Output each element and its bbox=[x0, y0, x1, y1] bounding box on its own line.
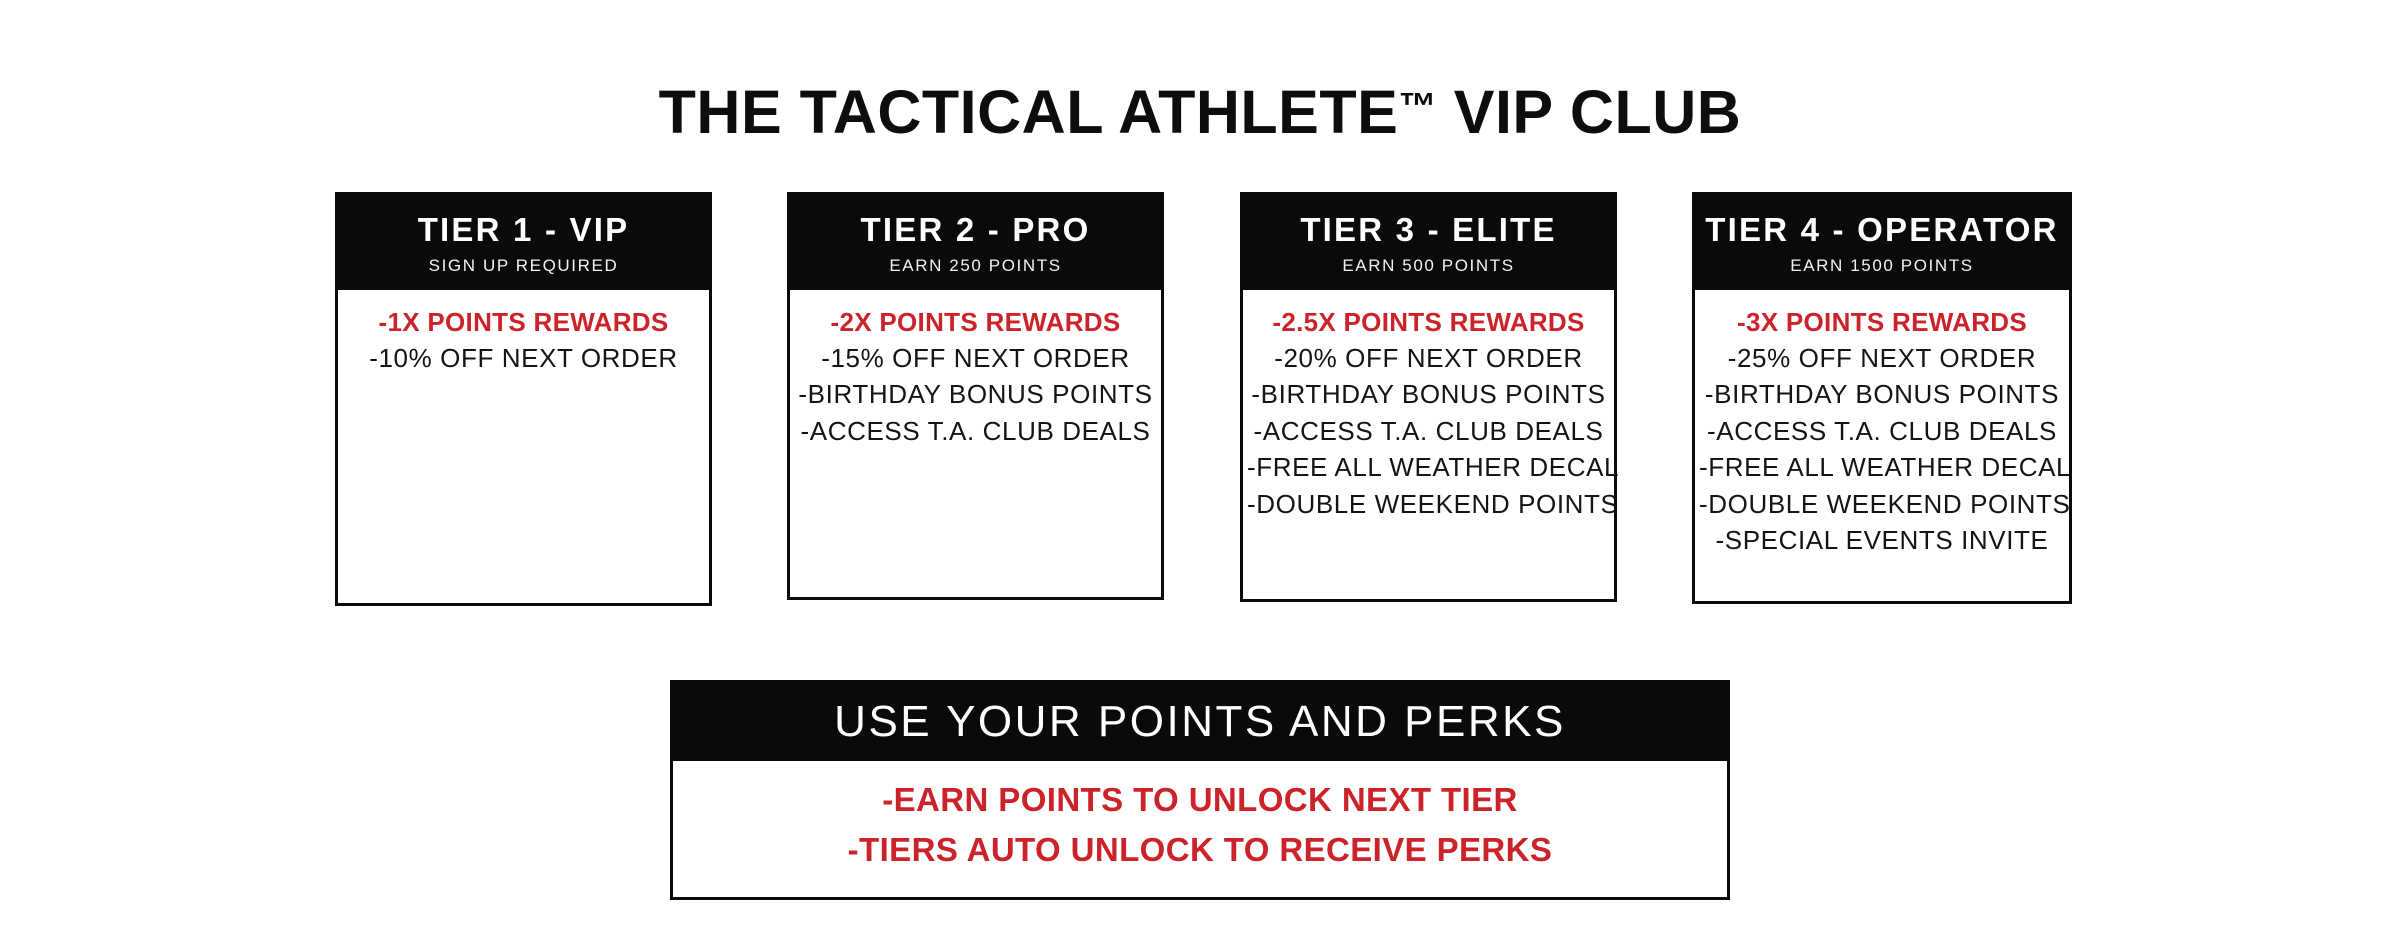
tier-card-header: TIER 3 - ELITE EARN 500 POINTS bbox=[1243, 195, 1614, 290]
points-panel-heading: USE YOUR POINTS AND PERKS bbox=[834, 697, 1566, 747]
tier-perk-item: -1X POINTS REWARDS bbox=[342, 304, 705, 340]
tier-perk-list: -2X POINTS REWARDS -15% OFF NEXT ORDER -… bbox=[790, 290, 1161, 597]
tier-perk-item: -FREE ALL WEATHER DECAL bbox=[1247, 449, 1610, 485]
tier-card-4[interactable]: TIER 4 - OPERATOR EARN 1500 POINTS -3X P… bbox=[1692, 192, 2072, 604]
tier-perk-item: -ACCESS T.A. CLUB DEALS bbox=[1699, 413, 2065, 449]
points-panel-line: -EARN POINTS TO UNLOCK NEXT TIER bbox=[882, 775, 1518, 825]
trademark-symbol: ™ bbox=[1398, 86, 1436, 128]
tier-perk-item: -BIRTHDAY BONUS POINTS bbox=[1247, 376, 1610, 412]
tier-requirement: SIGN UP REQUIRED bbox=[344, 256, 703, 276]
tier-perk-list: -2.5X POINTS REWARDS -20% OFF NEXT ORDER… bbox=[1243, 290, 1614, 599]
tier-requirement: EARN 250 POINTS bbox=[796, 256, 1155, 276]
tier-name: TIER 4 - OPERATOR bbox=[1701, 213, 2063, 248]
tier-requirement: EARN 500 POINTS bbox=[1249, 256, 1608, 276]
tier-card-header: TIER 2 - PRO EARN 250 POINTS bbox=[790, 195, 1161, 290]
points-panel-header: USE YOUR POINTS AND PERKS bbox=[673, 683, 1727, 761]
tier-requirement: EARN 1500 POINTS bbox=[1701, 256, 2063, 276]
tier-perk-item: -25% OFF NEXT ORDER bbox=[1699, 340, 2065, 376]
points-panel-line: -TIERS AUTO UNLOCK TO RECEIVE PERKS bbox=[848, 825, 1553, 875]
tier-perk-list: -1X POINTS REWARDS -10% OFF NEXT ORDER bbox=[338, 290, 709, 603]
tier-card-header: TIER 1 - VIP SIGN UP REQUIRED bbox=[338, 195, 709, 290]
tier-perk-item: -DOUBLE WEEKEND POINTS bbox=[1247, 486, 1610, 522]
tier-perk-item: -FREE ALL WEATHER DECAL bbox=[1699, 449, 2065, 485]
tier-card-row: TIER 1 - VIP SIGN UP REQUIRED -1X POINTS… bbox=[0, 192, 2400, 612]
tier-name: TIER 2 - PRO bbox=[796, 213, 1155, 248]
tier-perk-item: -DOUBLE WEEKEND POINTS bbox=[1699, 486, 2065, 522]
tier-perk-list: -3X POINTS REWARDS -25% OFF NEXT ORDER -… bbox=[1695, 290, 2069, 601]
tier-card-1[interactable]: TIER 1 - VIP SIGN UP REQUIRED -1X POINTS… bbox=[335, 192, 712, 606]
tier-perk-item: -2X POINTS REWARDS bbox=[794, 304, 1157, 340]
tier-card-3[interactable]: TIER 3 - ELITE EARN 500 POINTS -2.5X POI… bbox=[1240, 192, 1617, 602]
tier-name: TIER 3 - ELITE bbox=[1249, 213, 1608, 248]
use-your-points-panel: USE YOUR POINTS AND PERKS -EARN POINTS T… bbox=[670, 680, 1730, 900]
tier-perk-item: -3X POINTS REWARDS bbox=[1699, 304, 2065, 340]
points-panel-body: -EARN POINTS TO UNLOCK NEXT TIER -TIERS … bbox=[673, 761, 1727, 897]
tier-card-header: TIER 4 - OPERATOR EARN 1500 POINTS bbox=[1695, 195, 2069, 290]
page-title: THE TACTICAL ATHLETE™ VIP CLUB bbox=[0, 77, 2400, 147]
page-title-tail: VIP CLUB bbox=[1436, 78, 1741, 146]
tier-perk-item: -20% OFF NEXT ORDER bbox=[1247, 340, 1610, 376]
tier-perk-item: -SPECIAL EVENTS INVITE bbox=[1699, 522, 2065, 558]
tier-perk-item: -15% OFF NEXT ORDER bbox=[794, 340, 1157, 376]
tier-card-2[interactable]: TIER 2 - PRO EARN 250 POINTS -2X POINTS … bbox=[787, 192, 1164, 600]
tier-perk-item: -ACCESS T.A. CLUB DEALS bbox=[794, 413, 1157, 449]
tier-perk-item: -BIRTHDAY BONUS POINTS bbox=[1699, 376, 2065, 412]
tier-perk-item: -10% OFF NEXT ORDER bbox=[342, 340, 705, 376]
tier-perk-item: -2.5X POINTS REWARDS bbox=[1247, 304, 1610, 340]
page-title-main: THE TACTICAL ATHLETE bbox=[659, 78, 1399, 146]
tier-perk-item: -ACCESS T.A. CLUB DEALS bbox=[1247, 413, 1610, 449]
tier-perk-item: -BIRTHDAY BONUS POINTS bbox=[794, 376, 1157, 412]
tier-name: TIER 1 - VIP bbox=[344, 213, 703, 248]
